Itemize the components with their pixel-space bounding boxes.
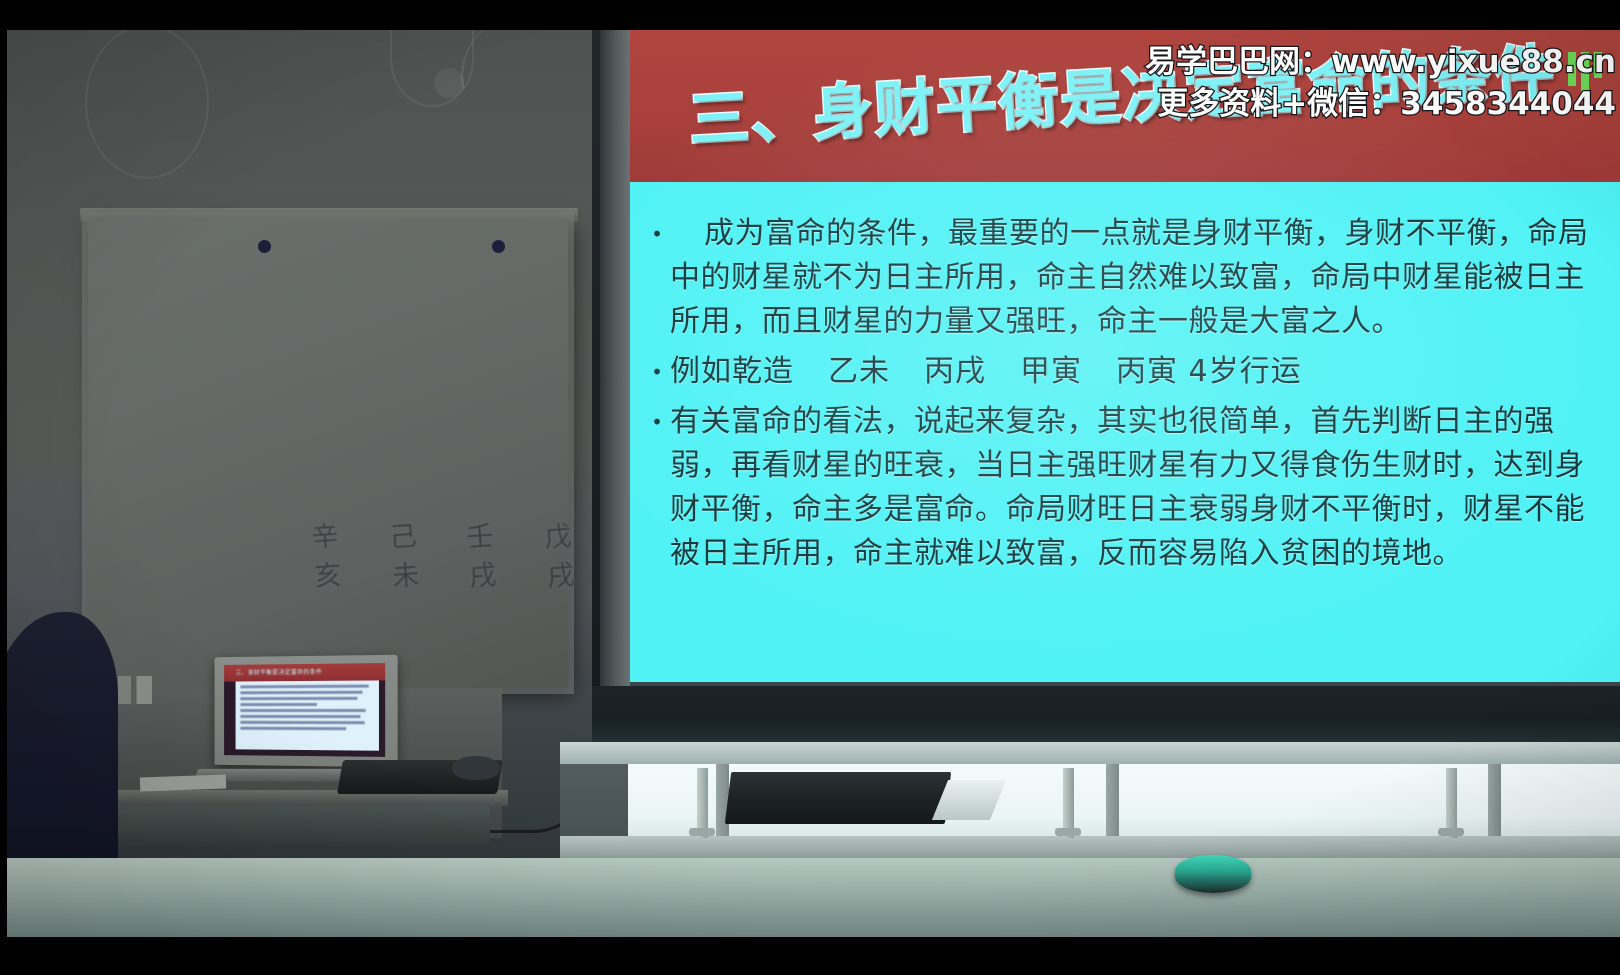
window-mullion — [1106, 764, 1119, 840]
table-leg-foot — [689, 828, 715, 836]
laptop-slide-body — [236, 680, 379, 750]
laptop-slide-title: 三、身财平衡是决定富命的条件 — [236, 667, 323, 677]
slide-bullet: • 例如乾造乙未丙戌甲寅丙寅 4岁行运 — [644, 350, 1602, 394]
slide-body: • 成为富命的条件，最重要的一点就是身财平衡，身财不平衡，命局中的财星就不为日主… — [630, 182, 1620, 682]
bullet-example-line: 例如乾造乙未丙戌甲寅丙寅 4岁行运 — [670, 350, 1602, 394]
whiteboard-char: 戌 — [468, 556, 498, 597]
whiteboard: 辛 亥 己 未 壬 戌 戊 戌 — [88, 218, 568, 688]
laptop-screen: 三、身财平衡是决定富命的条件 — [224, 663, 385, 757]
desk-cups — [118, 676, 152, 704]
slide-title-band: 三、身财平衡是决定富命的条件 — [630, 30, 1620, 182]
letterbox-left — [0, 0, 7, 975]
front-table-top — [0, 858, 1620, 944]
podium-front-panel — [118, 806, 490, 846]
bullet-paragraph: 成为富命的条件，最重要的一点就是身财平衡，身财不平衡，命局中的财星就不为日主所用… — [670, 212, 1602, 344]
pillar-year: 乙未 — [828, 354, 890, 389]
laptop-slide-header: 三、身财平衡是决定富命的条件 — [224, 663, 385, 682]
bullet-marker: • — [644, 212, 670, 256]
whiteboard-char: 戊 — [543, 517, 573, 558]
green-decoration-bars — [1568, 52, 1602, 98]
letterbox-bottom — [0, 937, 1620, 975]
whiteboard-column-1: 辛 亥 — [310, 517, 342, 597]
desk-papers — [140, 775, 226, 792]
projection-screen-bottom-bar — [592, 686, 1620, 742]
whiteboard-char: 未 — [391, 556, 421, 597]
luck-cycle-note: 4岁行运 — [1189, 354, 1302, 389]
pillar-hour: 丙寅 — [1116, 354, 1178, 389]
teal-round-device — [1175, 855, 1251, 893]
whiteboard-magnet — [258, 240, 271, 253]
pillar-month: 丙戌 — [924, 354, 986, 389]
slide-bullet: • 有关富命的看法，说起来复杂，其实也很简单，首先判断日主的强弱，再看财星的旺衰… — [644, 400, 1602, 576]
slide-title: 三、身财平衡是决定富命的条件 — [686, 30, 1558, 159]
table-leg-foot — [1055, 828, 1081, 836]
whiteboard-char: 己 — [388, 517, 418, 558]
whiteboard-char: 亥 — [313, 556, 343, 597]
bullet-paragraph: 有关富命的看法，说起来复杂，其实也很简单，首先判断日主的强弱，再看财星的旺衰，当… — [670, 400, 1602, 576]
presentation-slide: 三、身财平衡是决定富命的条件 • 成为富命的条件，最重要的一点就是身财平衡，身财… — [630, 30, 1620, 682]
example-label: 例如乾造 — [670, 354, 794, 389]
bullet-marker: • — [644, 350, 670, 394]
slide-bullet: • 成为富命的条件，最重要的一点就是身财平衡，身财不平衡，命局中的财星就不为日主… — [644, 212, 1602, 344]
table-leg-foot — [1438, 828, 1464, 836]
whiteboard-handwriting: 辛 亥 己 未 壬 戌 戊 戌 — [313, 518, 573, 658]
window-top-sill — [560, 742, 1620, 764]
ceiling-light-fixture-round — [85, 25, 209, 179]
whiteboard-char: 戌 — [546, 556, 576, 597]
projection-screen-left-bezel — [600, 28, 630, 700]
window-mullion — [1488, 764, 1501, 840]
pillar-day: 甲寅 — [1020, 354, 1082, 389]
laptop-lid: 三、身财平衡是决定富命的条件 — [215, 655, 398, 768]
screenshot-root: 辛 亥 己 未 壬 戌 戊 戌 三、身财平衡是决定富命的条件 — [0, 0, 1620, 975]
whiteboard-char: 壬 — [466, 517, 496, 558]
whiteboard-column-2: 己 未 — [388, 517, 420, 597]
ceiling-mount-knob — [434, 68, 464, 98]
window-glass — [628, 764, 1620, 840]
whiteboard-column-3: 壬 戌 — [466, 517, 498, 597]
whiteboard-magnet — [492, 240, 505, 253]
whiteboard-column-4: 戊 戌 — [543, 517, 575, 597]
whiteboard-char: 辛 — [310, 517, 340, 558]
ceiling-projector-unit — [725, 772, 951, 824]
letterbox-top — [0, 0, 1620, 30]
bullet-marker: • — [644, 400, 670, 444]
